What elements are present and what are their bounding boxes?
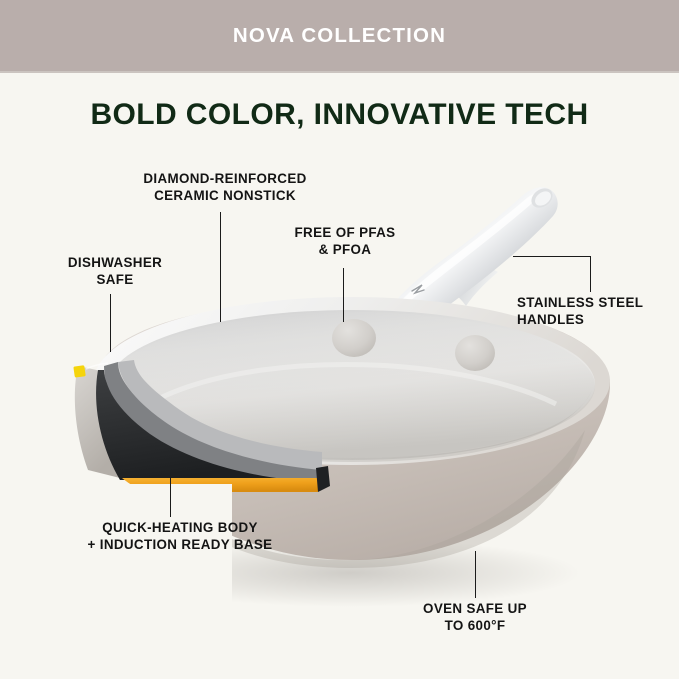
infographic-canvas: NOVA COLLECTION BOLD COLOR, INNOVATIVE T… (0, 0, 679, 679)
rivet-right (455, 335, 495, 371)
leader-line-oven-safe (475, 551, 476, 598)
callout-dishwasher-safe: DISHWASHER SAFE (30, 255, 200, 288)
leader-line-quick-heating (170, 477, 171, 517)
leader-line-handles-vertical (590, 256, 591, 292)
callout-stainless-steel-handles: STAINLESS STEEL HANDLES (517, 295, 677, 328)
callout-oven-safe: OVEN SAFE UP TO 600°F (375, 601, 575, 634)
leader-line-diamond (220, 212, 221, 322)
rivet-left (332, 319, 376, 357)
leader-line-pfas (343, 268, 344, 322)
callout-quick-heating-body-induction-ready-base: QUICK-HEATING BODY + INDUCTION READY BAS… (35, 520, 325, 553)
label-backdrop-bottom-left (0, 484, 232, 679)
callout-diamond-reinforced-ceramic-nonstick: DIAMOND-REINFORCED CERAMIC NONSTICK (100, 171, 350, 204)
cutaway-accent-chip (73, 365, 85, 377)
callout-free-of-pfas-pfoa: FREE OF PFAS & PFOA (255, 225, 435, 258)
leader-line-handles-horizontal (513, 256, 591, 257)
leader-line-dishwasher (110, 294, 111, 352)
